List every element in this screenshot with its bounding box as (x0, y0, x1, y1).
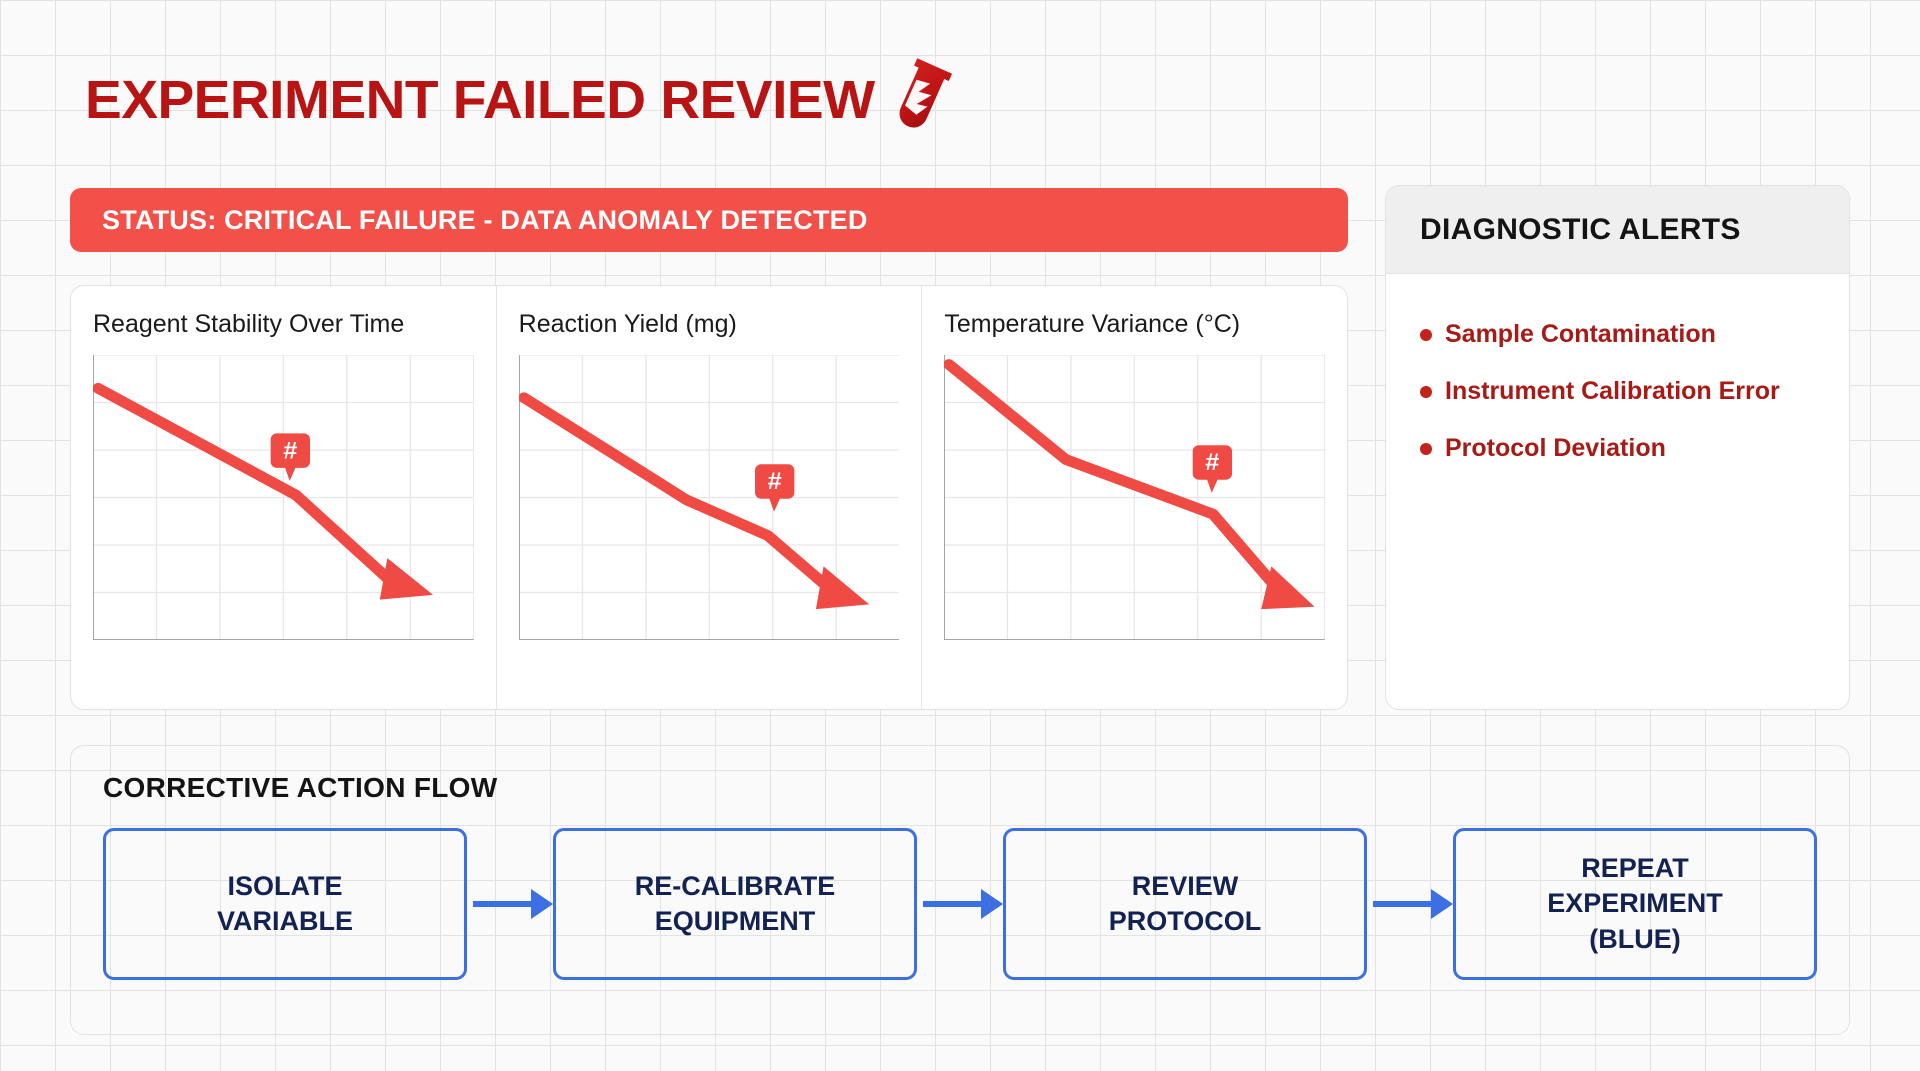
bullet-icon (1420, 386, 1432, 398)
alert-label: Sample Contamination (1445, 320, 1716, 349)
bullet-icon (1420, 329, 1432, 341)
chart-marker-label: # (283, 438, 297, 464)
flow-step-label: REPEAT EXPERIMENT (BLUE) (1547, 851, 1723, 956)
flow-step-re-calibrate-equipment[interactable]: RE-CALIBRATE EQUIPMENT (553, 828, 917, 980)
broken-test-tube-icon (885, 55, 965, 145)
chart-marker-label: # (767, 469, 781, 495)
flow-arrow-icon (1367, 892, 1453, 916)
chart-line (98, 388, 387, 578)
alerts-list: Sample Contamination Instrument Calibrat… (1386, 274, 1849, 463)
flow-step-repeat-experiment[interactable]: REPEAT EXPERIMENT (BLUE) (1453, 828, 1817, 980)
flow-arrow-icon (917, 892, 1003, 916)
chart-temperature-variance: # (944, 355, 1325, 640)
list-item[interactable]: Sample Contamination (1420, 320, 1819, 349)
charts-panel: Reagent Stability Over Time # (70, 285, 1348, 710)
chart-gridlines (93, 355, 474, 640)
chart-cell-temperature-variance: Temperature Variance (°C) # (921, 286, 1347, 709)
flow-step-label: RE-CALIBRATE EQUIPMENT (635, 869, 835, 939)
chart-marker-pin: # (271, 433, 310, 481)
alerts-panel-title: DIAGNOSTIC ALERTS (1420, 213, 1741, 247)
flow-step-isolate-variable[interactable]: ISOLATE VARIABLE (103, 828, 467, 980)
chart-arrowhead (816, 566, 869, 609)
chart-marker-pin: # (755, 464, 794, 512)
chart-title: Reaction Yield (mg) (519, 310, 900, 339)
diagnostic-alerts-panel: DIAGNOSTIC ALERTS Sample Contamination I… (1385, 185, 1850, 710)
chart-marker-label: # (1206, 450, 1220, 476)
page-title: EXPERIMENT FAILED REVIEW (85, 73, 875, 127)
flow-arrow-icon (467, 892, 553, 916)
flow-step-label: REVIEW PROTOCOL (1109, 869, 1262, 939)
flow-step-review-protocol[interactable]: REVIEW PROTOCOL (1003, 828, 1367, 980)
chart-arrowhead (380, 558, 433, 600)
flow-row: ISOLATE VARIABLE RE-CALIBRATE EQUIPMENT … (103, 828, 1817, 980)
chart-title: Temperature Variance (°C) (944, 310, 1325, 339)
alert-label: Protocol Deviation (1445, 434, 1666, 463)
chart-cell-reagent-stability: Reagent Stability Over Time # (71, 286, 496, 709)
bullet-icon (1420, 443, 1432, 455)
chart-title: Reagent Stability Over Time (93, 310, 474, 339)
list-item[interactable]: Instrument Calibration Error (1420, 377, 1819, 406)
page-header: EXPERIMENT FAILED REVIEW (85, 55, 965, 145)
status-banner: STATUS: CRITICAL FAILURE - DATA ANOMALY … (70, 188, 1348, 252)
status-banner-text: STATUS: CRITICAL FAILURE - DATA ANOMALY … (102, 205, 868, 236)
list-item[interactable]: Protocol Deviation (1420, 434, 1819, 463)
chart-marker-pin: # (1193, 445, 1232, 493)
flow-panel-title: CORRECTIVE ACTION FLOW (103, 772, 1817, 804)
chart-cell-reaction-yield: Reaction Yield (mg) # (496, 286, 922, 709)
corrective-action-flow-panel: CORRECTIVE ACTION FLOW ISOLATE VARIABLE … (70, 745, 1850, 1035)
flow-step-label: ISOLATE VARIABLE (217, 869, 353, 939)
alert-label: Instrument Calibration Error (1445, 377, 1780, 406)
chart-reaction-yield: # (519, 355, 900, 640)
chart-reagent-stability: # (93, 355, 474, 640)
alerts-panel-header: DIAGNOSTIC ALERTS (1386, 186, 1849, 274)
